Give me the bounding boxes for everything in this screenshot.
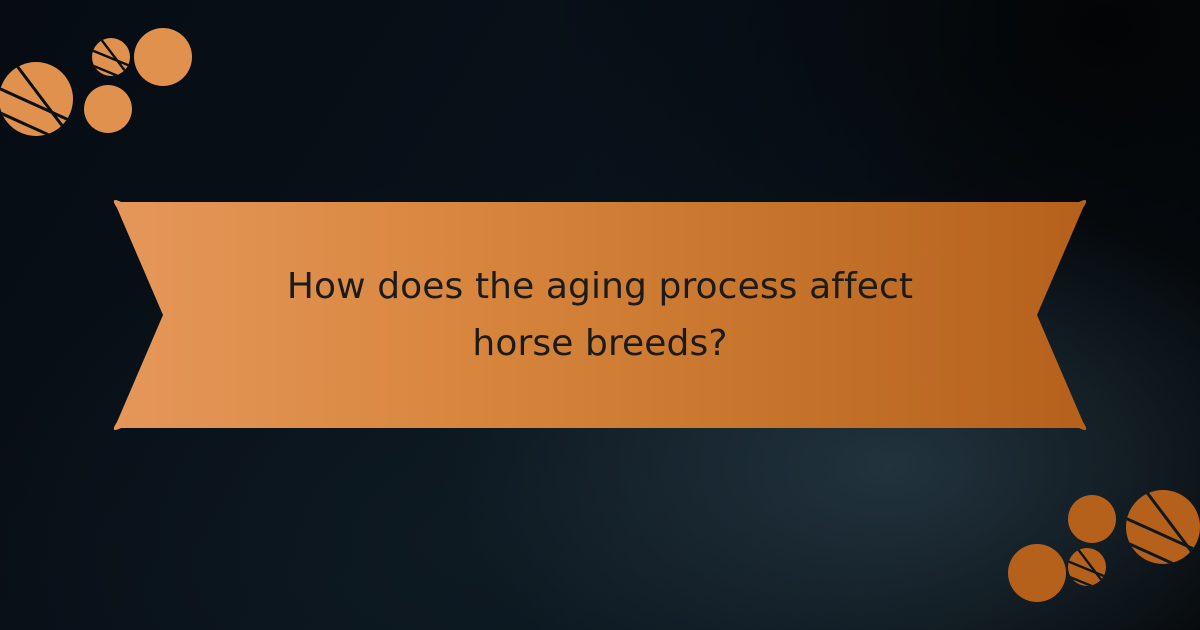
- bottom-right-circle-cluster: [1000, 480, 1200, 630]
- large-plain-circle: [134, 28, 192, 86]
- medium-plain-circle: [84, 85, 132, 133]
- small-striped-circle: [1068, 548, 1106, 586]
- card-canvas: How does the aging process affect horse …: [0, 0, 1200, 630]
- large-striped-circle: [0, 62, 73, 136]
- question-banner: How does the aging process affect horse …: [109, 196, 1091, 434]
- banner-headline: How does the aging process affect horse …: [250, 258, 950, 372]
- large-striped-circle: [1126, 490, 1200, 564]
- medium-plain-circle: [1068, 495, 1116, 543]
- small-striped-circle: [92, 38, 130, 76]
- top-left-circle-cluster: [0, 0, 200, 150]
- banner-text-area: How does the aging process affect horse …: [109, 196, 1091, 434]
- plain-circle: [1008, 544, 1066, 602]
